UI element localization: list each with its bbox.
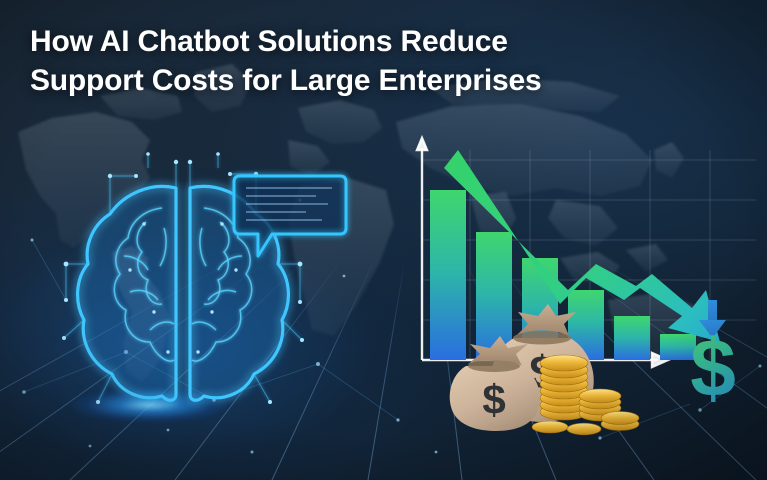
coin-stacks xyxy=(532,355,639,435)
dollar-symbol: $ xyxy=(690,323,736,414)
page-title: How AI Chatbot Solutions Reduce Support … xyxy=(30,22,630,100)
title-line-2: Support Costs for Large Enterprises xyxy=(30,61,630,100)
title-line-1: How AI Chatbot Solutions Reduce xyxy=(30,22,630,61)
falling-cost-dollar-badge: $ xyxy=(668,296,758,404)
money-bags-and-coins: $ $ xyxy=(452,296,642,431)
svg-text:$: $ xyxy=(482,376,505,423)
chatbot-speech-bubble xyxy=(228,172,346,264)
banner-root: $ $ xyxy=(0,0,767,480)
